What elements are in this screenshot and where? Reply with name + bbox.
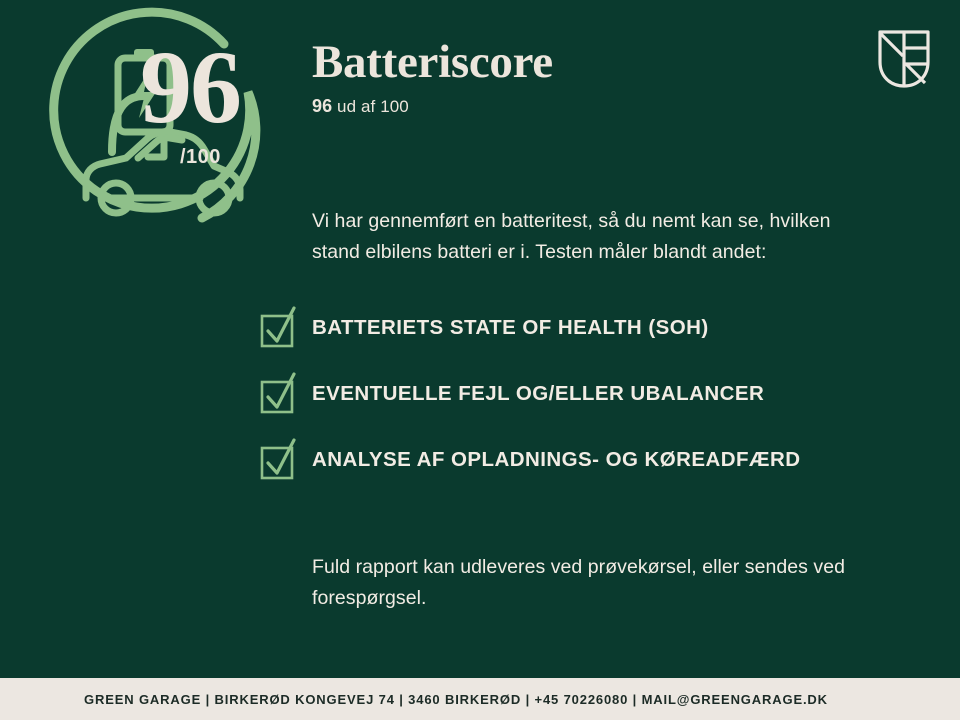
score-subline: 96 ud af 100 — [312, 96, 872, 117]
badge-out-of-label: /100 — [180, 146, 221, 169]
checklist-item: BATTERIETS STATE OF HEALTH (SOH) — [258, 306, 898, 350]
checked-checkbox-icon — [258, 306, 298, 350]
headline-block: Batteriscore 96 ud af 100 — [312, 38, 872, 117]
checked-checkbox-icon — [258, 438, 298, 482]
green-garage-shield-logo — [876, 28, 932, 90]
score-subline-value: 96 — [312, 96, 332, 116]
checklist-item: ANALYSE AF OPLADNINGS- OG KØREADFÆRD — [258, 438, 898, 482]
battery-score-badge: 96 /100 — [52, 22, 292, 238]
checklist: BATTERIETS STATE OF HEALTH (SOH) EVENTUE… — [258, 306, 898, 482]
checklist-item-label: BATTERIETS STATE OF HEALTH (SOH) — [312, 316, 709, 340]
checked-checkbox-icon — [258, 372, 298, 416]
checklist-item-label: ANALYSE AF OPLADNINGS- OG KØREADFÆRD — [312, 448, 800, 472]
closing-paragraph: Fuld rapport kan udleveres ved prøvekørs… — [312, 552, 852, 615]
checklist-item-label: EVENTUELLE FEJL OG/ELLER UBALANCER — [312, 382, 764, 406]
score-subline-suffix: ud af 100 — [332, 97, 409, 116]
badge-score-value: 96 — [140, 36, 240, 140]
batteriscore-poster: 96 /100 Batteriscore 96 ud af 100 Vi har… — [0, 0, 960, 720]
intro-paragraph: Vi har gennemført en batteritest, så du … — [312, 206, 842, 269]
footer-contact-line: GREEN GARAGE | BIRKERØD KONGEVEJ 74 | 34… — [0, 692, 828, 707]
footer-bar: GREEN GARAGE | BIRKERØD KONGEVEJ 74 | 34… — [0, 678, 960, 720]
page-title: Batteriscore — [312, 38, 872, 87]
checklist-item: EVENTUELLE FEJL OG/ELLER UBALANCER — [258, 372, 898, 416]
